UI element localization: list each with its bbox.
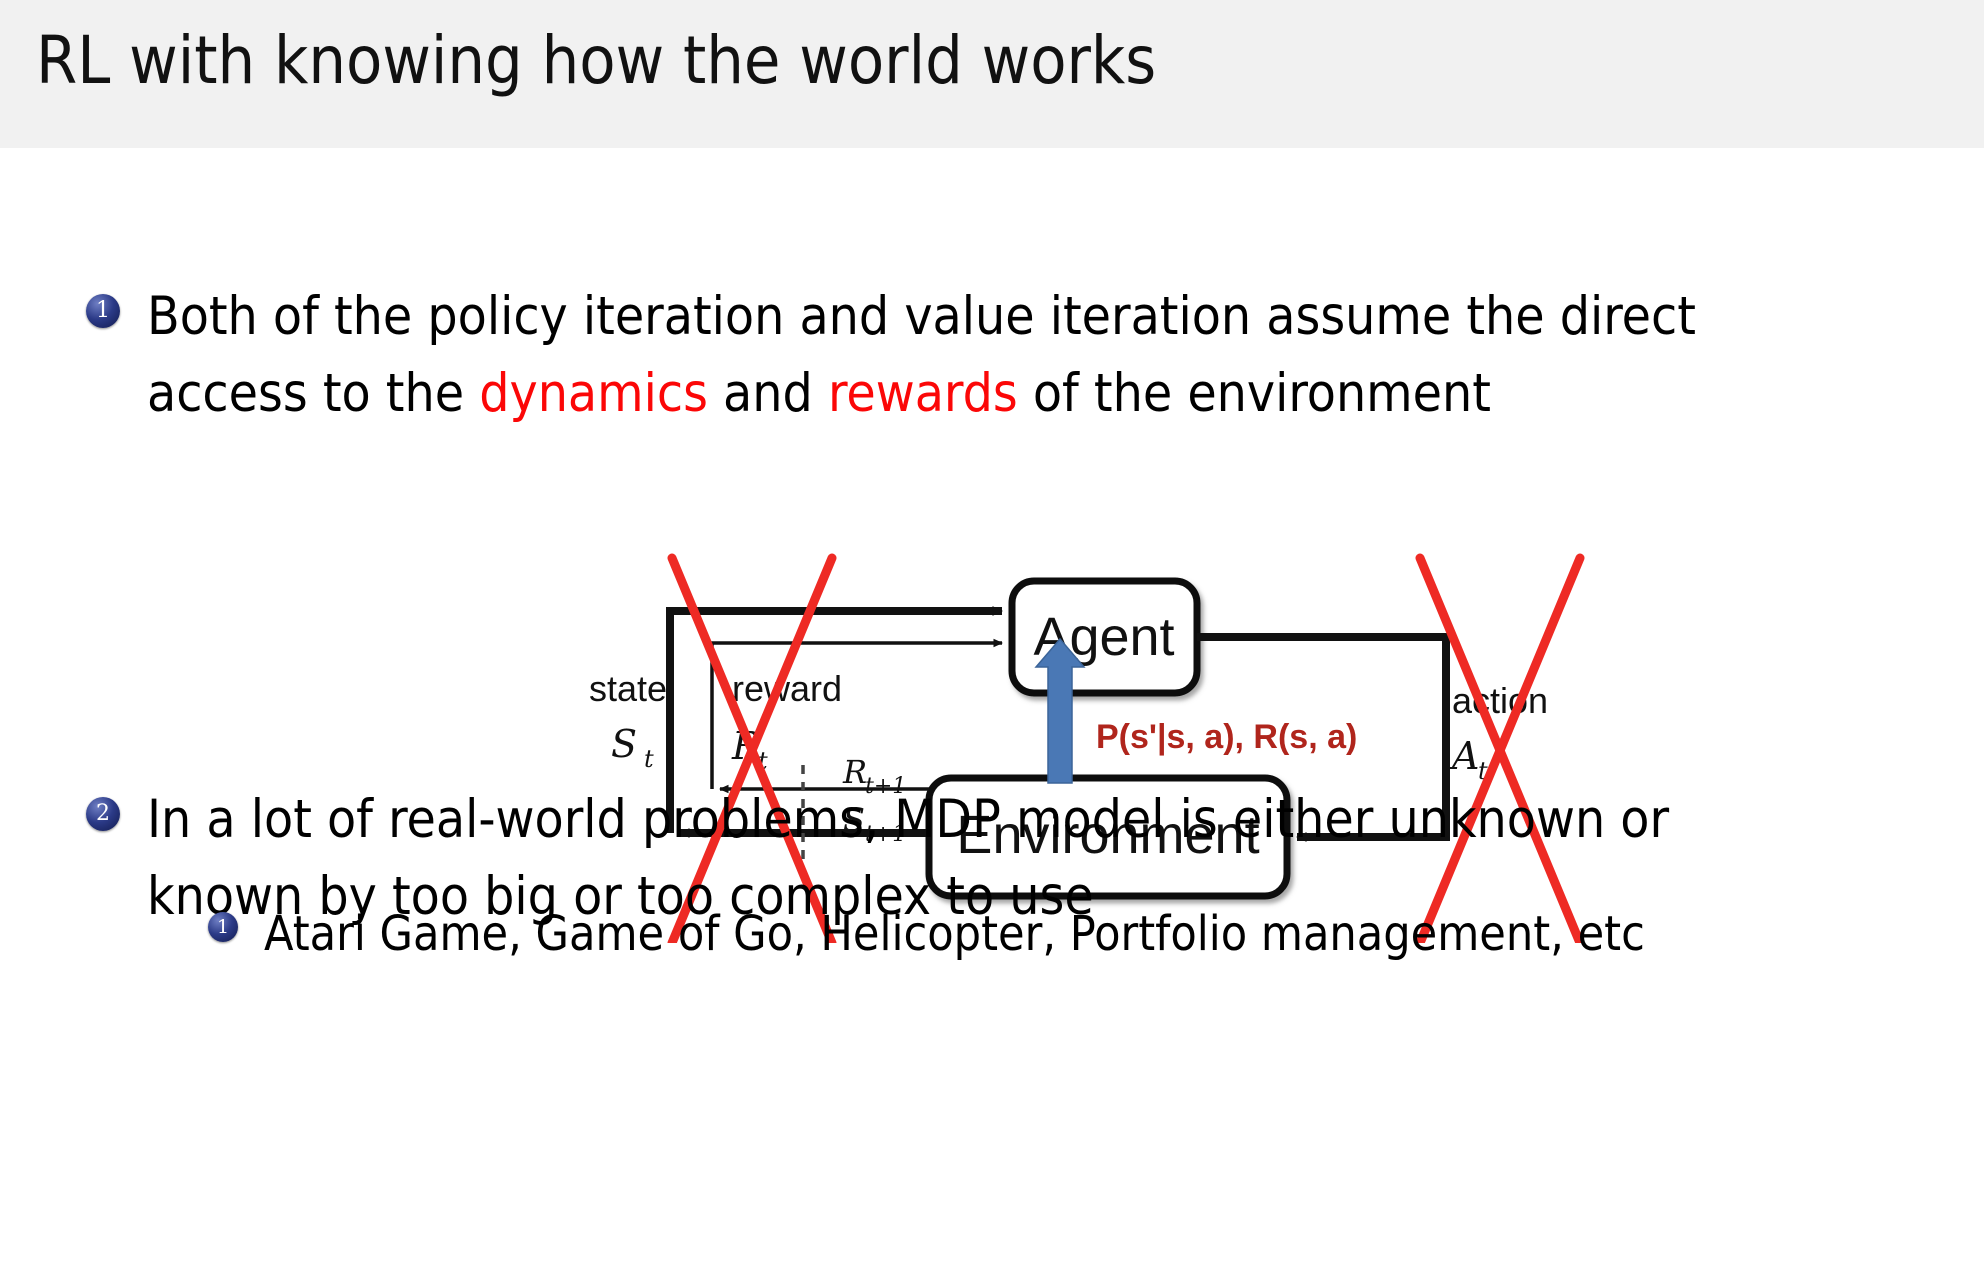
bullet-1-keyword-rewards: rewards [828,363,1018,424]
agent-box: Agent [1012,581,1197,693]
bullet-marker-2a: 1 [208,912,238,942]
state-symbol: S [611,722,637,766]
bullet-2a-line-1: Atari Game, Game of Go, Helicopter, Port… [264,906,1645,962]
model-knowledge-up-arrow [1036,639,1084,783]
bullet-text-1: Both of the policy iteration and value i… [147,278,1696,432]
model-annotation-label: P(s'|s, a), R(s, a) [1096,718,1357,756]
page-title: RL with knowing how the world works [36,22,1156,99]
bullet-marker-1: 1 [86,294,120,328]
bullet-1-keyword-dynamics: dynamics [479,363,708,424]
bullet-2-line-1: In a lot of real-world problems, MDP mod… [147,789,1669,850]
bullet-marker-2: 2 [86,797,120,831]
bullet-item-2a: 1 Atari Game, Game of Go, Helicopter, Po… [208,898,1938,970]
state-symbol-subscript: t [644,745,654,773]
bullet-1-line-2-suffix: of the environment [1018,363,1491,424]
action-symbol: A [1449,734,1479,778]
bullet-1-line-2-mid: and [708,363,828,424]
slide-header-bar: RL with knowing how the world works [0,0,1984,148]
bullet-1-line-2-prefix: access to the [147,363,479,424]
state-label: state [589,668,667,709]
state-label-group: state S t [589,668,667,773]
slide-body: 1 Both of the policy iteration and value… [0,148,1984,1270]
action-right-label-group: action A t [1449,680,1548,785]
bullet-text-2a: Atari Game, Game of Go, Helicopter, Port… [264,898,1645,970]
action-label: action [1452,680,1548,721]
bullet-item-1: 1 Both of the policy iteration and value… [86,278,1956,432]
bullet-1-line-1: Both of the policy iteration and value i… [147,286,1696,347]
